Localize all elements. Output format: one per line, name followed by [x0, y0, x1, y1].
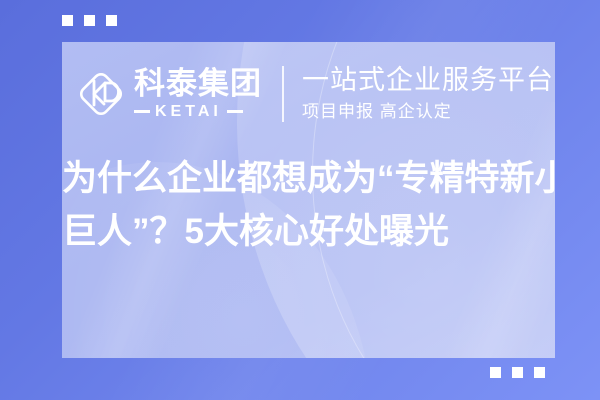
brand-name-cn: 科泰集团	[134, 68, 262, 100]
wordmark-rule-right	[227, 110, 243, 113]
decor-square	[62, 15, 73, 26]
decor-square	[490, 367, 501, 378]
brand-name-en-row: KETAI	[134, 104, 262, 120]
header-vertical-divider	[282, 66, 284, 122]
decorative-squares-bottom-right	[490, 367, 545, 378]
decor-square	[512, 367, 523, 378]
decor-square	[534, 367, 545, 378]
headline-text: 为什么企业都想成为“专精特新小巨人”？5大核心好处曝光	[62, 152, 555, 258]
decorative-squares-top-left	[62, 15, 117, 26]
promo-banner: 科泰集团 KETAI 一站式企业服务平台 项目申报 高企认定 为什么企业都想成为…	[0, 0, 600, 400]
tagline-primary: 一站式企业服务平台	[302, 65, 554, 97]
tagline-block: 一站式企业服务平台 项目申报 高企认定	[302, 65, 554, 123]
brand-header: 科泰集团 KETAI 一站式企业服务平台 项目申报 高企认定	[74, 46, 554, 142]
decor-square	[106, 15, 117, 26]
tagline-secondary: 项目申报 高企认定	[302, 101, 554, 123]
brand-wordmark: 科泰集团 KETAI	[134, 68, 262, 119]
wordmark-rule-left	[134, 110, 150, 113]
ketai-logo-icon	[74, 67, 128, 121]
content-panel: 科泰集团 KETAI 一站式企业服务平台 项目申报 高企认定 为什么企业都想成为…	[62, 42, 555, 358]
brand-name-en: KETAI	[155, 104, 222, 120]
decor-square	[84, 15, 95, 26]
